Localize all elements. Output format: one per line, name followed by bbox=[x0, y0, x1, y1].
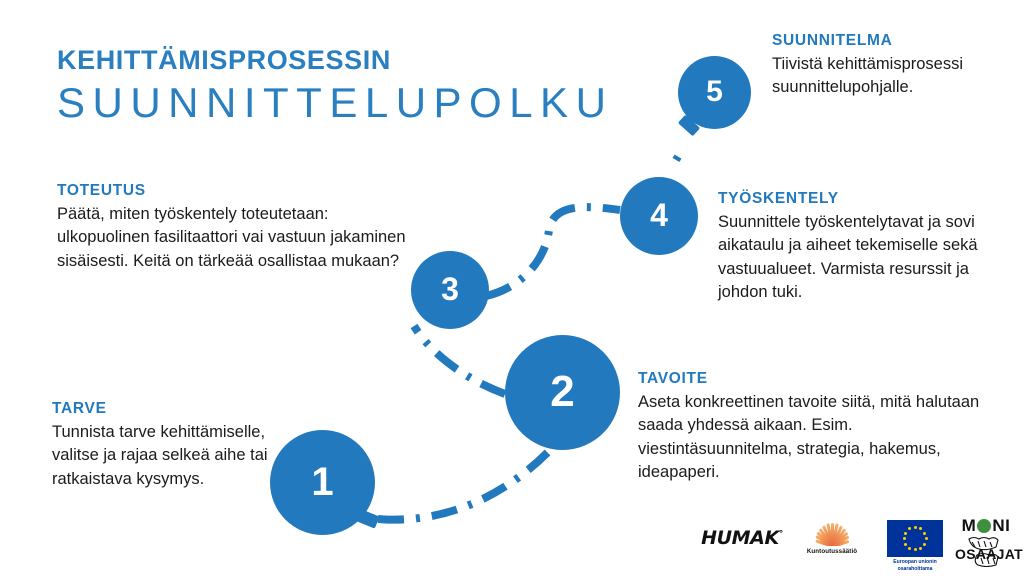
step-heading-5: SUUNNITELMA bbox=[772, 32, 1004, 50]
moniosaajat-bottom-text: OSAAJAT bbox=[955, 547, 1017, 561]
step-heading-2: TAVOITE bbox=[638, 370, 998, 388]
moniosaajat-logo: MNI OSAAJAT bbox=[955, 517, 1017, 571]
step-heading-4: TYÖSKENTELY bbox=[718, 190, 1008, 208]
humak-logo-mark: ° bbox=[779, 530, 783, 540]
kuntoutussaatio-tree-icon bbox=[809, 520, 855, 546]
kuntoutussaatio-logo-text: Kuntoutussäätiö bbox=[793, 548, 871, 555]
step-number-5: 5 bbox=[706, 77, 723, 107]
eu-logo-text: Euroopan unionin osarahoittama bbox=[879, 559, 951, 573]
step-body-3: Päätä, miten työskentely toteutetaan: ul… bbox=[57, 203, 422, 273]
moniosaajat-m: M bbox=[962, 516, 977, 535]
moniosaajat-o-icon bbox=[977, 519, 991, 533]
step-node-2[interactable]: 2 bbox=[505, 335, 620, 450]
eu-logo: Euroopan unionin osarahoittama bbox=[879, 520, 951, 573]
step-body-4: Suunnittele työskentelytavat ja sovi aik… bbox=[718, 211, 1008, 305]
step-heading-3: TOTEUTUS bbox=[57, 182, 422, 200]
step-body-5: Tiivistä kehittämisprosessi suunnittelup… bbox=[772, 53, 1004, 100]
step-node-3[interactable]: 3 bbox=[411, 251, 489, 329]
logo-strip: HUMAK° Kuntoutussäätiö Euroopan unionin … bbox=[693, 515, 1018, 573]
step-heading-1: TARVE bbox=[52, 400, 274, 418]
step-number-4: 4 bbox=[650, 199, 668, 231]
humak-logo: HUMAK° bbox=[699, 527, 785, 549]
step-number-1: 1 bbox=[311, 462, 333, 502]
humak-logo-text: HUMAK bbox=[701, 527, 779, 549]
step-text-4: TYÖSKENTELY Suunnittele työskentelytavat… bbox=[718, 190, 1008, 305]
moniosaajat-top-text: MNI bbox=[955, 517, 1017, 534]
step-body-1: Tunnista tarve kehittämiselle, valitse j… bbox=[52, 421, 274, 491]
kuntoutussaatio-logo: Kuntoutussäätiö bbox=[793, 520, 871, 555]
eu-flag-icon bbox=[887, 520, 943, 557]
moniosaajat-ni: NI bbox=[992, 516, 1010, 535]
step-number-3: 3 bbox=[441, 273, 459, 305]
step-text-2: TAVOITE Aseta konkreettinen tavoite siit… bbox=[638, 370, 998, 485]
step-text-3: TOTEUTUS Päätä, miten työskentely toteut… bbox=[57, 182, 422, 273]
step-text-5: SUUNNITELMA Tiivistä kehittämisprosessi … bbox=[772, 32, 1004, 100]
step-body-2: Aseta konkreettinen tavoite siitä, mitä … bbox=[638, 391, 998, 485]
infographic-canvas: KEHITTÄMISPROSESSIN SUUNNITTELUPOLKU 1 2… bbox=[0, 0, 1024, 576]
step-node-4[interactable]: 4 bbox=[620, 177, 698, 255]
step-text-1: TARVE Tunnista tarve kehittämiselle, val… bbox=[52, 400, 274, 491]
step-number-2: 2 bbox=[550, 370, 574, 414]
